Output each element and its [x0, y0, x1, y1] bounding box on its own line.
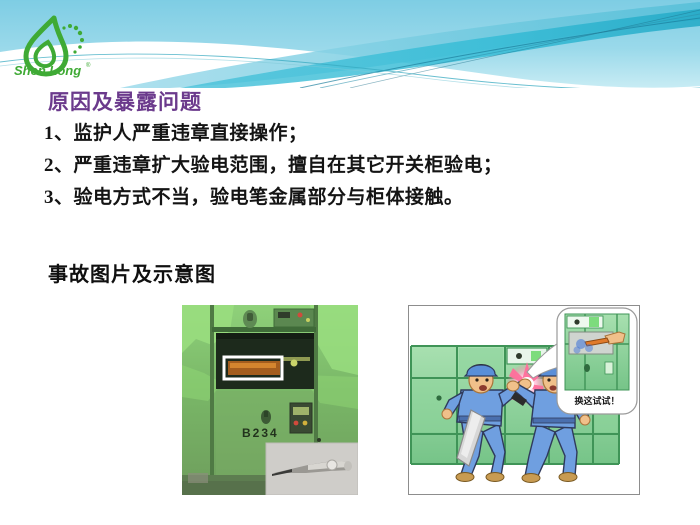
- section-heading: 事故图片及示意图: [48, 258, 216, 287]
- list-item-text: 严重违章扩大验电范围，擅自在其它开关柜验电；: [74, 155, 503, 176]
- slide-root: Shen Long ® 原因及暴露问题 1、监护人严重违章直接操作； 2、严重违…: [0, 0, 700, 525]
- list-item: 3、验电方式不当，验电笔金属部分与柜体接触。: [44, 182, 684, 214]
- shen-long-water-drop-logo: Shen Long ®: [8, 12, 100, 80]
- decorative-wave-banner: [0, 0, 700, 88]
- cabinet-label: B234: [242, 426, 279, 440]
- speech-bubble-text: 换这试试！: [574, 395, 619, 406]
- list-item-number: 3、: [44, 187, 74, 208]
- page-title: 原因及暴露问题: [48, 86, 202, 116]
- accident-scene-photo: B234: [182, 305, 358, 495]
- list-item: 1、监护人严重违章直接操作；: [44, 118, 684, 150]
- logo-wordmark: Shen Long: [14, 63, 81, 78]
- list-item: 2、严重违章扩大验电范围，擅自在其它开关柜验电；: [44, 150, 684, 182]
- damaged-voltage-tester-inset: [266, 443, 358, 495]
- list-item-number: 1、: [44, 123, 74, 144]
- accident-illustration: 换这试试！: [408, 305, 640, 495]
- list-item-number: 2、: [44, 155, 74, 176]
- list-item-text: 监护人严重违章直接操作；: [74, 123, 308, 144]
- list-item-text: 验电方式不当，验电笔金属部分与柜体接触。: [74, 187, 464, 208]
- cause-list: 1、监护人严重违章直接操作； 2、严重违章扩大验电范围，擅自在其它开关柜验电； …: [44, 118, 684, 214]
- svg-text:®: ®: [86, 62, 91, 69]
